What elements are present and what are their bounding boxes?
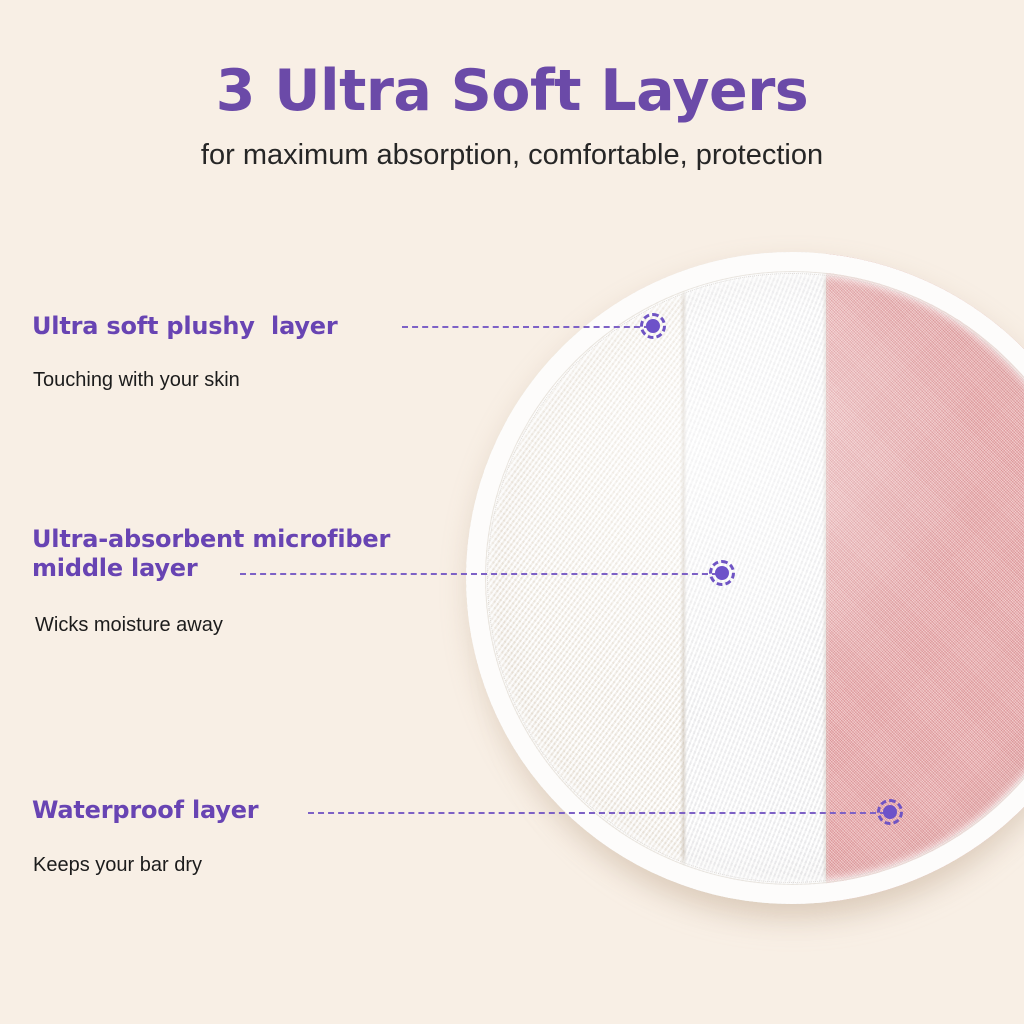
header: 3 Ultra Soft Layers for maximum absorpti… bbox=[0, 0, 1024, 172]
callout-title: Ultra soft plushy layer bbox=[32, 312, 337, 341]
marker-dot-icon bbox=[646, 319, 660, 333]
callout-marker-microfiber-layer bbox=[709, 560, 735, 586]
page-subtitle: for maximum absorption, comfortable, pro… bbox=[0, 140, 1024, 172]
infographic-canvas: 3 Ultra Soft Layers for maximum absorpti… bbox=[0, 0, 1024, 1024]
product-image bbox=[466, 252, 1024, 904]
callout-waterproof-layer: Waterproof layer Keeps your bar dry bbox=[32, 796, 258, 877]
callout-description: Keeps your bar dry bbox=[33, 853, 258, 877]
marker-dot-icon bbox=[715, 566, 729, 580]
leader-line-plush bbox=[402, 326, 650, 328]
marker-dot-icon bbox=[883, 805, 897, 819]
callout-description: Wicks moisture away bbox=[35, 613, 390, 637]
nursing-pad-disc bbox=[466, 252, 1024, 904]
callout-title: Ultra-absorbent microfiber middle layer bbox=[32, 525, 390, 584]
callout-description: Touching with your skin bbox=[33, 368, 337, 392]
page-title: 3 Ultra Soft Layers bbox=[0, 62, 1024, 122]
callout-microfiber-layer: Ultra-absorbent microfiber middle layer … bbox=[32, 525, 390, 637]
leader-line-waterproof bbox=[308, 812, 886, 814]
callout-plush-layer: Ultra soft plushy layer Touching with yo… bbox=[32, 312, 337, 392]
callout-marker-plush-layer bbox=[640, 313, 666, 339]
callout-marker-waterproof-layer bbox=[877, 799, 903, 825]
callout-title: Waterproof layer bbox=[32, 796, 258, 825]
